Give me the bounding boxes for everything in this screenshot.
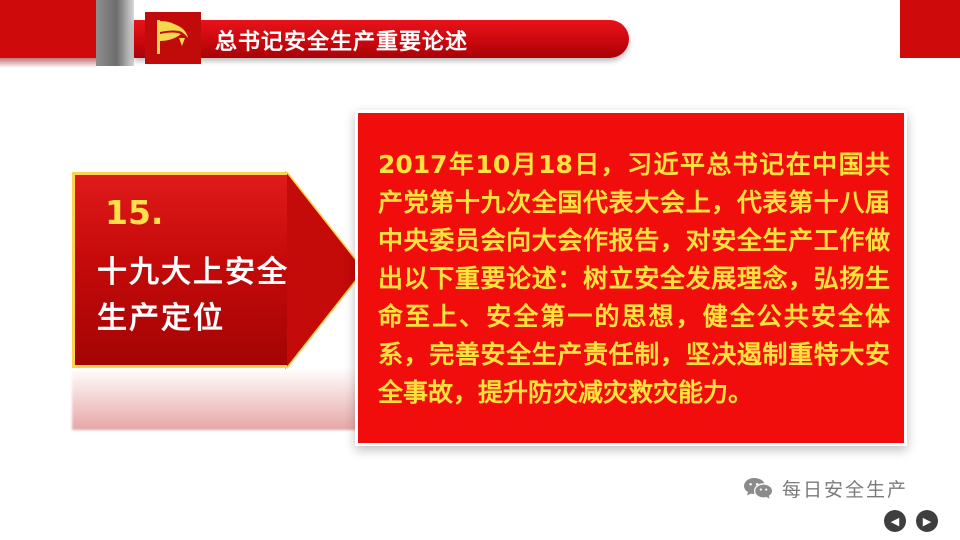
- header-left-red-block: [0, 0, 96, 58]
- header-gray-tab: [96, 0, 134, 66]
- watermark: 每日安全生产: [743, 475, 908, 502]
- next-button[interactable]: ▶: [916, 510, 938, 532]
- navigation-controls: ◀ ▶: [884, 510, 938, 532]
- header-right-red-block: [900, 0, 960, 58]
- prev-button[interactable]: ◀: [884, 510, 906, 532]
- left-panel-line2: 生产定位: [97, 293, 225, 337]
- left-panel-line1: 十九大上安全: [97, 247, 289, 291]
- left-panel-number: 15.: [105, 193, 163, 232]
- content-box-text: 2017年10月18日，习近平总书记在中国共产党第十九次全国代表大会上，代表第十…: [378, 146, 890, 412]
- party-emblem-icon: [145, 12, 201, 64]
- slide-canvas: 总书记安全生产重要论述 15. 十九大上安全 生产定位 2017年10月18日，…: [0, 0, 960, 540]
- watermark-label: 每日安全生产: [782, 475, 908, 502]
- header-bar: 总书记安全生产重要论述: [0, 0, 960, 76]
- left-panel-reflection: [72, 368, 365, 430]
- wechat-icon: [743, 476, 773, 501]
- left-panel: 15. 十九大上安全 生产定位: [72, 172, 362, 368]
- content-box: 2017年10月18日，习近平总书记在中国共产党第十九次全国代表大会上，代表第十…: [355, 110, 907, 446]
- left-panel-body: 15. 十九大上安全 生产定位: [72, 172, 287, 368]
- header-title: 总书记安全生产重要论述: [215, 24, 468, 56]
- left-panel-arrow-head-inner: [285, 173, 361, 367]
- header-left-red-shadow: [0, 58, 96, 68]
